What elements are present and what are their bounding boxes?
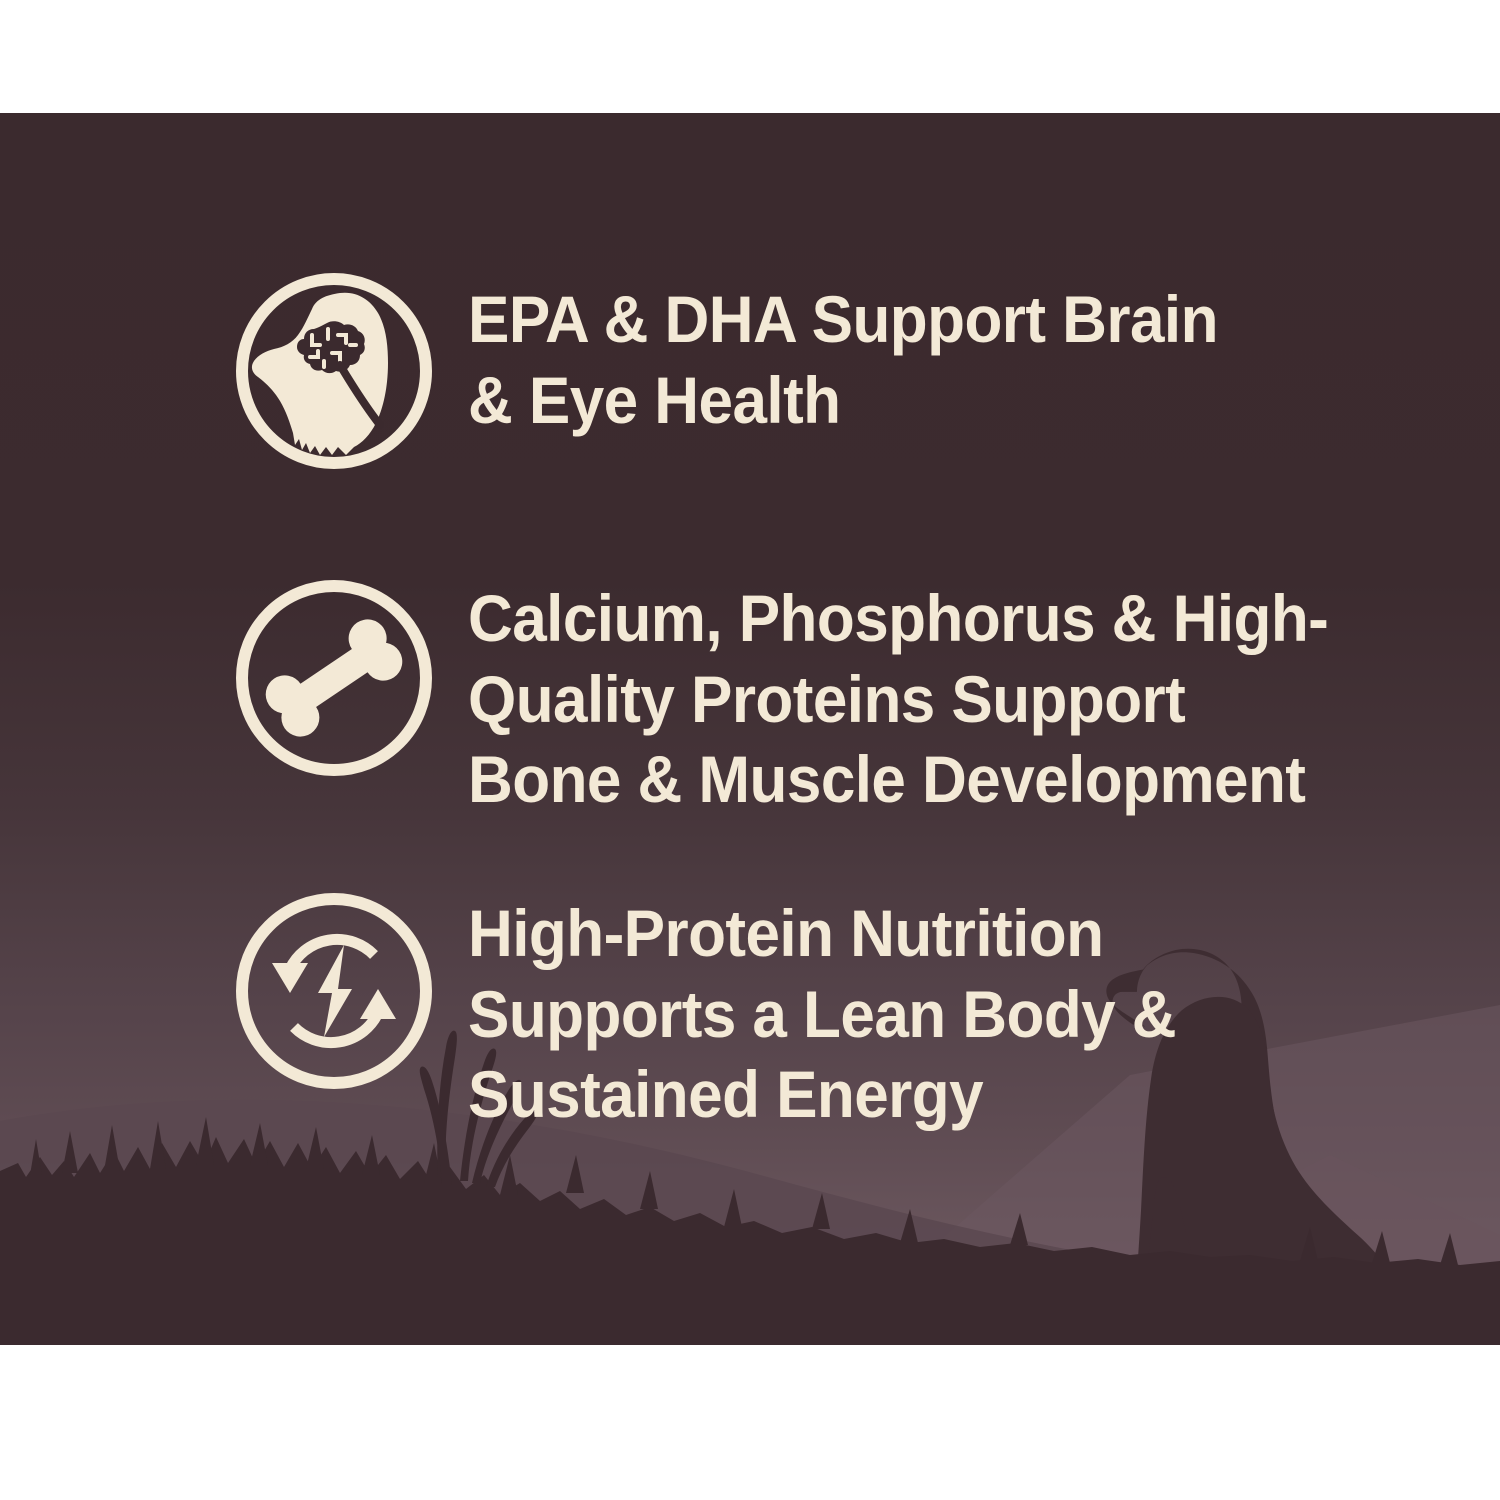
feature-row-bone-muscle: Calcium, Phosphorus & High- Quality Prot… xyxy=(228,572,1383,820)
dark-gradient-panel: EPA & DHA Support Brain & Eye Health xyxy=(0,113,1500,1345)
bone-icon xyxy=(228,572,440,784)
energy-cycle-bolt-icon xyxy=(228,885,440,1097)
feature-row-energy: High-Protein Nutrition Supports a Lean B… xyxy=(228,885,1221,1135)
bone-shape xyxy=(258,612,409,744)
feature-text-2: High-Protein Nutrition Supports a Lean B… xyxy=(468,885,1176,1135)
dog-head-brain-icon xyxy=(228,265,440,477)
feature-text-0: EPA & DHA Support Brain & Eye Health xyxy=(468,265,1218,440)
bolt-shape xyxy=(318,945,352,1037)
feature-row-brain-eye-health: EPA & DHA Support Brain & Eye Health xyxy=(228,265,1266,477)
feature-text-1: Calcium, Phosphorus & High- Quality Prot… xyxy=(468,572,1328,820)
product-feature-panel: EPA & DHA Support Brain & Eye Health xyxy=(0,0,1500,1500)
